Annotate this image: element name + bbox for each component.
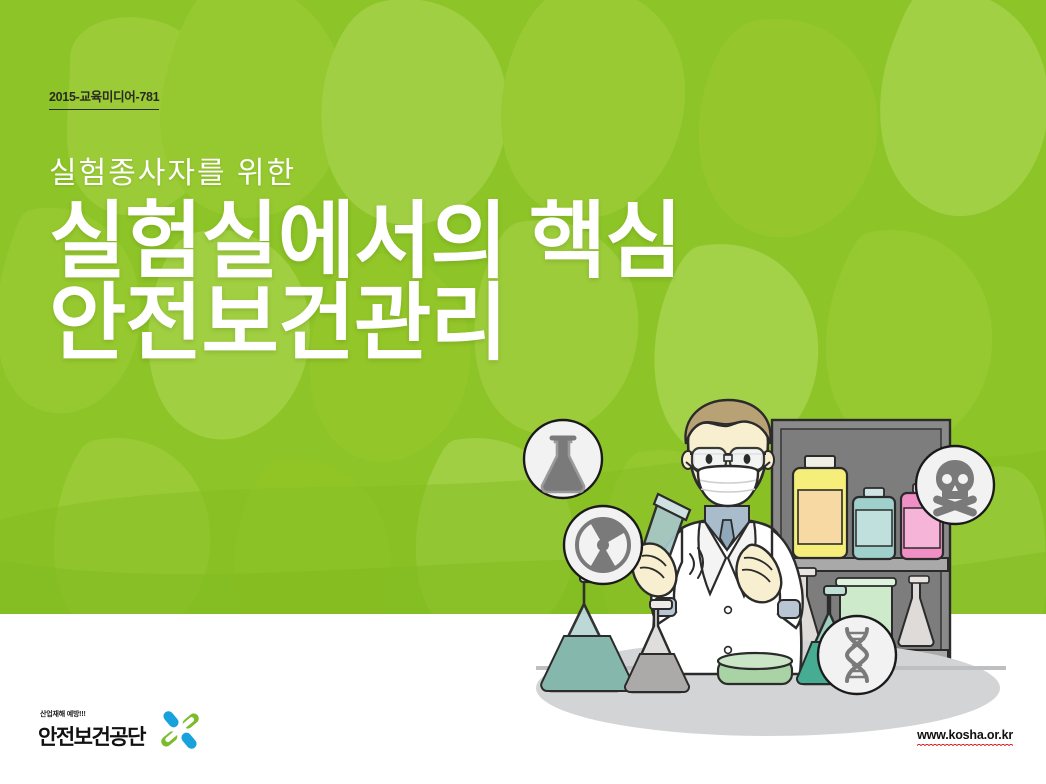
flask-icon — [522, 418, 604, 505]
shelf-bottle-yellow — [793, 456, 847, 558]
radiation-icon — [562, 504, 644, 591]
shelf-bottle-teal — [853, 488, 895, 559]
page-title: 실험실에서의 핵심 안전보건관리 — [49, 200, 682, 365]
kosha-logo-mark — [156, 706, 204, 759]
website-url-text: www.kosha.or.kr — [917, 728, 1013, 742]
cover-page: 2015-교육미디어-781 실험종사자를 위한 실험실에서의 핵심 안전보건관… — [0, 0, 1046, 784]
dna-helix-icon — [816, 614, 898, 701]
cover-subtitle: 실험종사자를 위한 — [49, 148, 296, 192]
skull-crossbones-icon — [914, 444, 996, 531]
kosha-logo: 산업재해 예방!!! 안전보건공단 — [36, 706, 206, 758]
logo-tagline: 산업재해 예방!!! — [40, 709, 86, 719]
title-line-2: 안전보건관리 — [49, 282, 682, 364]
website-url[interactable]: www.kosha.or.kr — [917, 728, 1013, 747]
logo-organization-name: 안전보건공단 — [38, 721, 145, 751]
petri-dish — [718, 653, 792, 684]
title-line-1: 실험실에서의 핵심 — [49, 194, 682, 288]
catalog-number: 2015-교육미디어-781 — [49, 86, 159, 110]
website-url-underline — [917, 743, 1013, 747]
